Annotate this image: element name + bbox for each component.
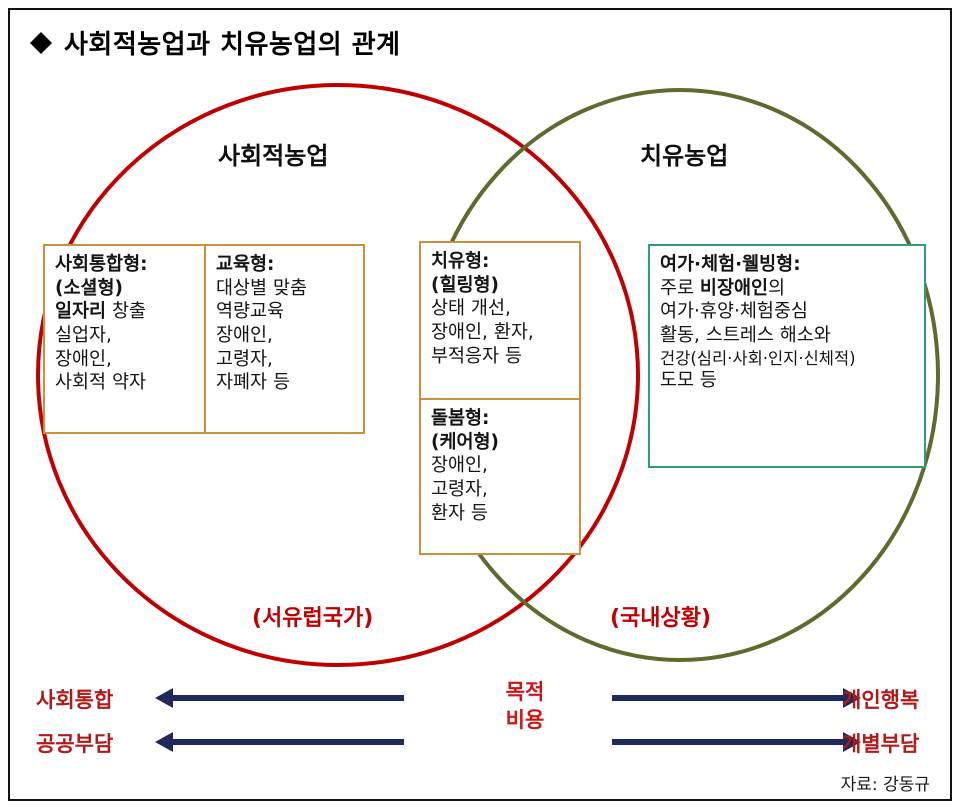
care-line-0: 장애인, [431, 454, 570, 478]
care-subheading: (케어형) [431, 431, 570, 455]
education-line-4: 자폐자 등 [216, 371, 354, 395]
healing-line-1: 장애인, 환자, [431, 321, 570, 345]
comparison-left-label-0: 사회통합 [36, 684, 113, 714]
healing-subheading: (힐링형) [431, 274, 570, 298]
education-line-1: 역량교육 [216, 300, 354, 324]
healing-line-2: 부적응자 등 [431, 345, 570, 369]
education-type-cell: 교육형: 대상별 맞춤 역량교육 장애인, 고령자, 자폐자 등 [206, 246, 363, 432]
social-agriculture-types-box: 사회통합형: (소셜형) 일자리 창출 실업자, 장애인, 사회적 약자 교육형… [43, 244, 365, 434]
overlap-types-box: 치유형: (힐링형) 상태 개선, 장애인, 환자, 부적응자 등 돌봄형: (… [419, 241, 581, 555]
western-europe-caption: (서유럽국가) [252, 600, 373, 632]
social-integration-jobline-rest: 창출 [106, 301, 146, 322]
comparison-row-purpose: 사회통합 개인행복 [0, 682, 960, 722]
comparison-row-cost: 공공부담 개별부담 [0, 726, 960, 766]
healing-type-cell: 치유형: (힐링형) 상태 개선, 장애인, 환자, 부적응자 등 [421, 243, 579, 400]
left-arrow-1 [172, 739, 404, 745]
care-line-1: 고령자, [431, 478, 570, 502]
social-integration-item-2: 사회적 약자 [55, 371, 195, 395]
social-integration-heading: 사회통합형: [55, 253, 195, 277]
leisure-line-4: 건강(심리·사회·인지·신체적) [660, 348, 915, 369]
healing-line-0: 상태 개선, [431, 297, 570, 321]
source-attribution: 자료: 강동규 [841, 770, 930, 795]
social-integration-jobline-bold: 일자리 [55, 301, 106, 322]
social-integration-item-0: 실업자, [55, 324, 195, 348]
comparison-right-label-0: 개인행복 [842, 684, 919, 714]
social-agriculture-label: 사회적농업 [218, 136, 328, 171]
leisure-type-cell: 여가·체험·웰빙형: 주로 비장애인의 여가·휴양·체험중심 활동, 스트레스 … [650, 246, 924, 398]
care-farming-label: 치유농업 [640, 136, 728, 171]
leisure-line1-pre: 주로 [660, 278, 700, 299]
education-line-2: 장애인, [216, 324, 354, 348]
comparison-right-label-1: 개별부담 [842, 728, 919, 758]
care-heading: 돌봄형: [431, 407, 570, 431]
leisure-wellbeing-box: 여가·체험·웰빙형: 주로 비장애인의 여가·휴양·체험중심 활동, 스트레스 … [648, 244, 926, 468]
domestic-situation-caption: (국내상황) [610, 600, 711, 632]
arrow-head-left-icon [155, 732, 173, 752]
leisure-line1-post: 의 [768, 278, 785, 299]
diagram-page: 사회적농업과 치유농업의 관계 사회적농업 치유농업 사회통합형: (소셜형) … [0, 0, 960, 809]
leisure-line-1: 주로 비장애인의 [660, 277, 915, 301]
social-integration-subheading: (소셜형) [55, 277, 195, 301]
education-line-3: 고령자, [216, 348, 354, 372]
social-integration-type-cell: 사회통합형: (소셜형) 일자리 창출 실업자, 장애인, 사회적 약자 [45, 246, 206, 432]
social-integration-jobline: 일자리 창출 [55, 300, 195, 324]
education-line-0: 대상별 맞춤 [216, 277, 354, 301]
leisure-line-3: 활동, 스트레스 해소와 [660, 324, 915, 348]
leisure-line1-bold: 비장애인 [700, 278, 768, 299]
leisure-heading: 여가·체험·웰빙형: [660, 253, 915, 277]
healing-heading: 치유형: [431, 250, 570, 274]
leisure-line-5: 도모 등 [660, 369, 915, 393]
arrow-head-left-icon [155, 688, 173, 708]
care-line-2: 환자 등 [431, 502, 570, 526]
left-arrow-0 [172, 695, 404, 701]
leisure-line-2: 여가·휴양·체험중심 [660, 300, 915, 324]
right-arrow-0 [612, 695, 844, 701]
right-arrow-1 [612, 739, 844, 745]
care-type-cell: 돌봄형: (케어형) 장애인, 고령자, 환자 등 [421, 400, 579, 553]
social-integration-item-1: 장애인, [55, 348, 195, 372]
education-heading: 교육형: [216, 253, 354, 277]
comparison-left-label-1: 공공부담 [36, 728, 113, 758]
